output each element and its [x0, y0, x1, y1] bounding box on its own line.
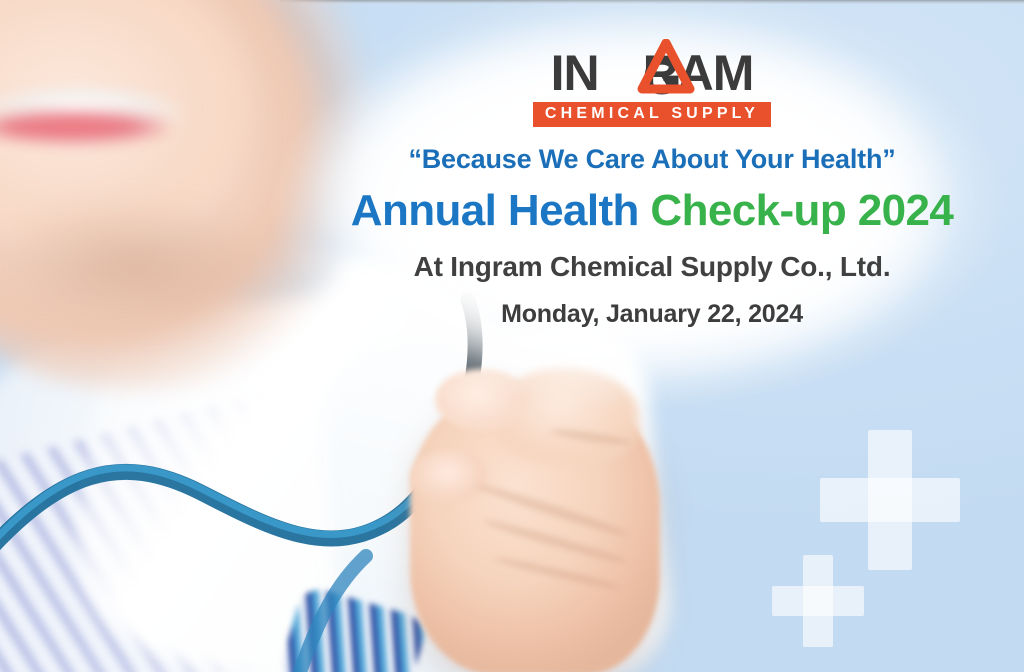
- logo-tagline-bar: CHEMICAL SUPPLY: [533, 102, 771, 127]
- poster-content: INRAM G CHEMICAL SUPPLY “Because We Care…: [280, 0, 1024, 672]
- health-checkup-poster: INRAM G CHEMICAL SUPPLY “Because We Care…: [0, 0, 1024, 672]
- company-logo: INRAM G CHEMICAL SUPPLY: [280, 48, 1024, 127]
- page-title-part-2: Check-up 2024: [650, 186, 953, 235]
- logo-word-prefix: IN: [551, 45, 599, 101]
- logo-wordmark: INRAM G: [551, 48, 754, 98]
- poster-quote: “Because We Care About Your Health”: [280, 144, 1024, 175]
- date-text: Monday, January 22, 2024: [280, 300, 1024, 329]
- page-title: Annual Health Check-up 2024: [280, 186, 1024, 236]
- venue-text: At Ingram Chemical Supply Co., Ltd.: [280, 251, 1024, 283]
- logo-triangle-icon: [637, 39, 695, 97]
- page-title-part-1: Annual Health: [351, 186, 639, 235]
